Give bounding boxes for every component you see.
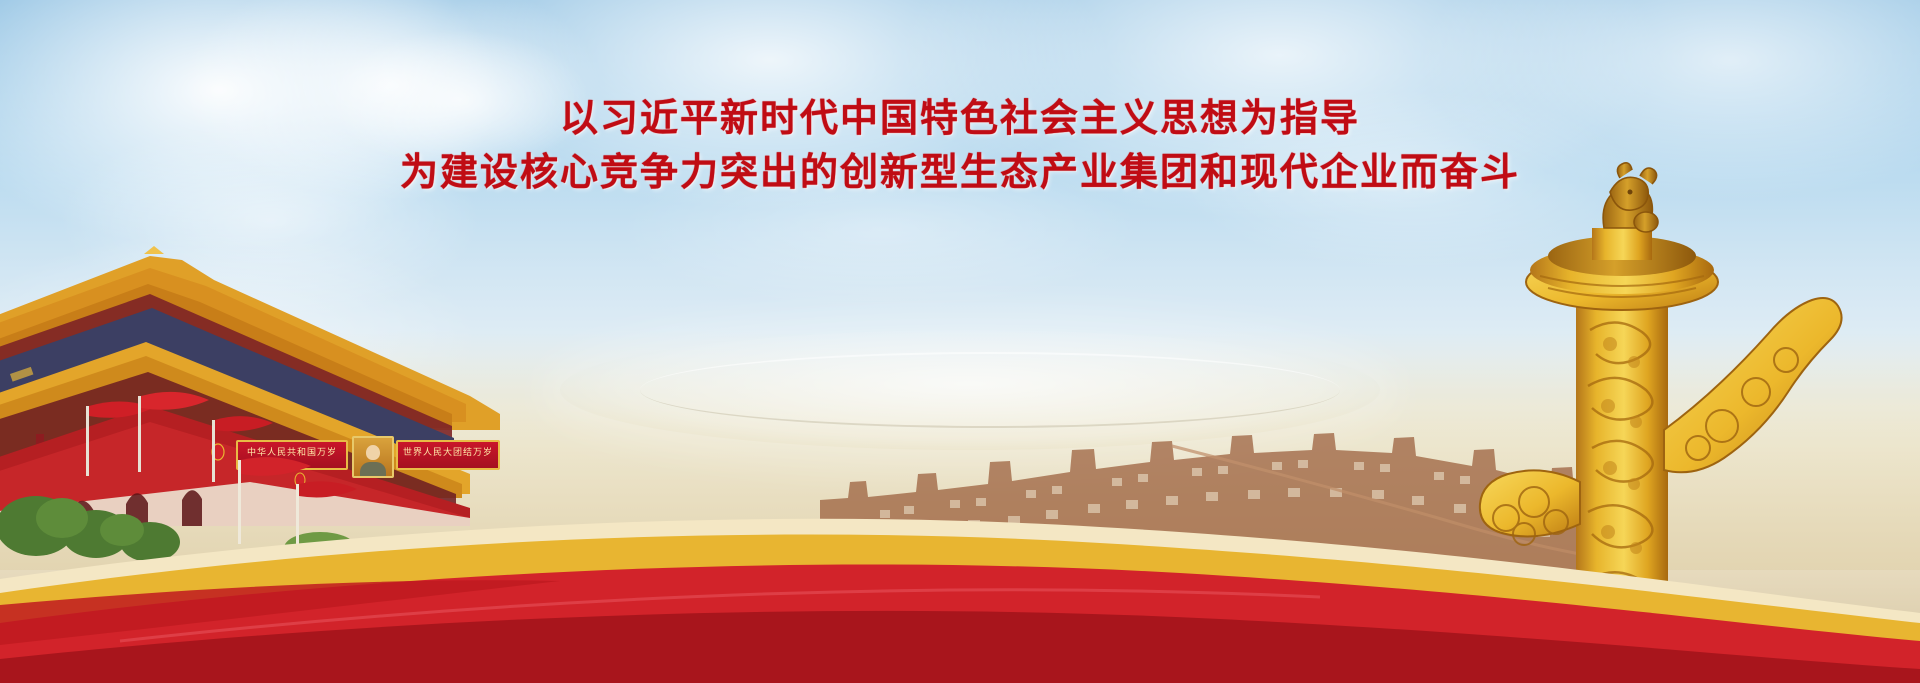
foreground-trees [0,430,720,560]
cloud-shape [620,150,1140,310]
cloud-shape [430,0,1110,210]
cloud-shape [180,0,600,200]
cloud-shape [0,0,500,250]
cloud-shape [330,30,590,170]
huabiao-column [1358,130,1918,683]
propaganda-banner: 中华人民共和国万岁 世界人民大团结万岁 [0,0,1920,683]
